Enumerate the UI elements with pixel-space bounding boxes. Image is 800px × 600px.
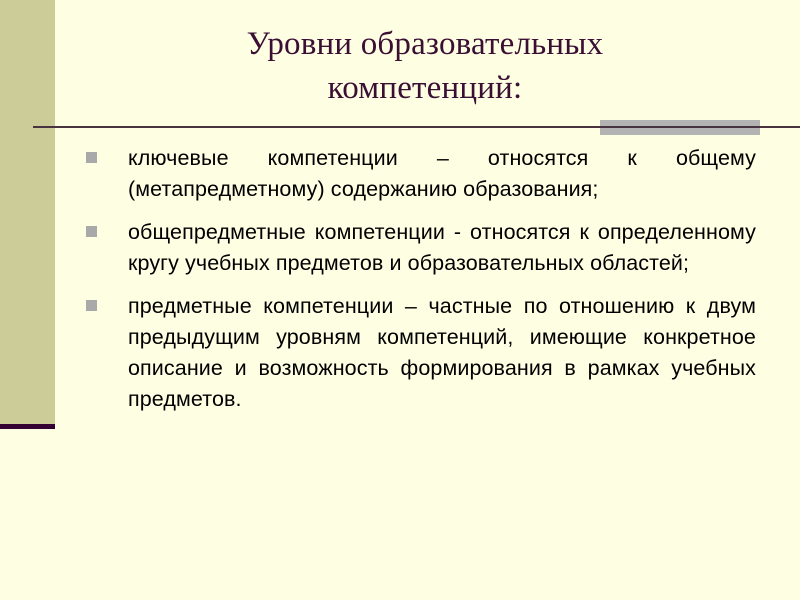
bullet-list: ключевые компетенции – относятся к общем…: [86, 143, 756, 427]
list-item-text: общепредметные компетенции - относятся к…: [128, 217, 756, 279]
square-bullet-icon: [86, 300, 97, 311]
left-accent-band: [0, 0, 55, 424]
list-item: общепредметные компетенции - относятся к…: [86, 217, 756, 279]
presentation-slide: Уровни образовательных компетенций: ключ…: [0, 0, 800, 600]
list-item-text: предметные компетенции – частные по отно…: [128, 291, 756, 415]
slide-title: Уровни образовательных компетенций:: [120, 22, 730, 110]
square-bullet-icon: [86, 226, 97, 237]
title-divider: [0, 118, 800, 138]
square-bullet-icon: [86, 152, 97, 163]
slide-title-line-1: Уровни образовательных: [120, 22, 730, 66]
divider-rule-line: [33, 126, 800, 128]
list-item: предметные компетенции – частные по отно…: [86, 291, 756, 415]
list-item-text: ключевые компетенции – относятся к общем…: [128, 143, 756, 205]
left-accent-band-foot: [0, 424, 55, 429]
slide-title-line-2: компетенций:: [120, 66, 730, 110]
list-item: ключевые компетенции – относятся к общем…: [86, 143, 756, 205]
